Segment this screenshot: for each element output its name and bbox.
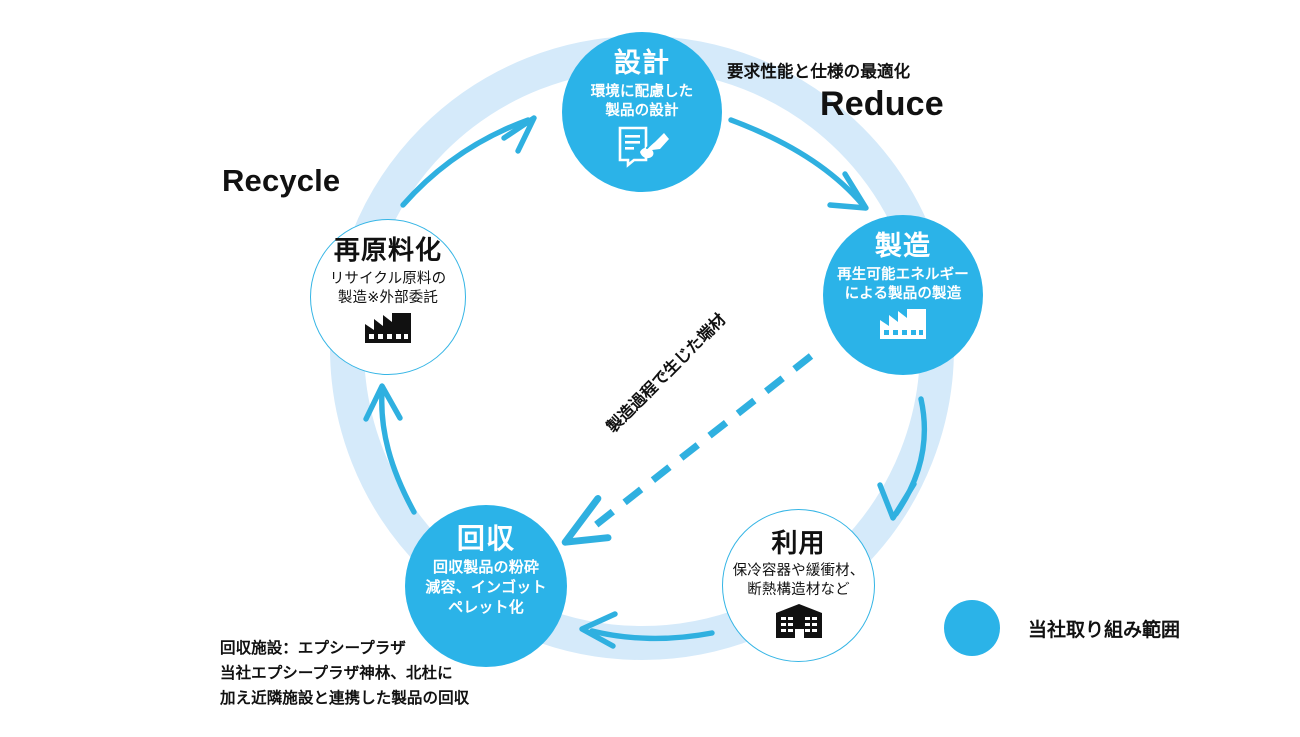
node-remat[interactable]: 再原料化 リサイクル原料の 製造※外部委託 [310, 219, 466, 375]
node-collect-title: 回収 [457, 524, 515, 553]
node-design-title: 設計 [614, 49, 670, 77]
node-collect-description: 回収製品の粉砕 減容、インゴット ペレット化 [425, 558, 546, 617]
collection-facility-note-line-3: 加え近隣施設と連携した製品の回収 [220, 686, 469, 711]
factory-icon [878, 309, 928, 339]
node-collect-desc-line-2: 減容、インゴット [425, 578, 546, 598]
node-manufacture-description: 再生可能エネルギー による製品の製造 [837, 266, 969, 304]
node-use-title: 利用 [771, 530, 825, 557]
legend: 当社取り組み範囲 [944, 600, 1180, 656]
legend-swatch-blue-circle [944, 600, 1000, 656]
warehouse-building-icon [775, 604, 823, 638]
node-design[interactable]: 設計 環境に配慮した 製品の設計 [562, 32, 722, 192]
collection-facility-note-line-2: 当社エプシープラザ神林、北杜に [220, 661, 469, 686]
node-design-description: 環境に配慮した 製品の設計 [591, 83, 694, 121]
node-use-desc-line-2: 断熱構造材など [733, 581, 865, 600]
node-use-description: 保冷容器や緩衝材、 断熱構造材など [733, 562, 865, 600]
node-remat-desc-line-1: リサイクル原料の [330, 270, 446, 289]
legend-label: 当社取り組み範囲 [1028, 615, 1180, 642]
node-design-desc-line-2: 製品の設計 [591, 102, 694, 121]
node-remat-description: リサイクル原料の 製造※外部委託 [330, 270, 446, 308]
reduce-subtitle: 要求性能と仕様の最適化 [727, 58, 910, 82]
node-manufacture[interactable]: 製造 再生可能エネルギー による製品の製造 [823, 215, 983, 375]
node-manufacture-desc-line-2: による製品の製造 [837, 285, 969, 304]
recycling-cycle-diagram: 設計 環境に配慮した 製品の設計 製造 再生可能エネルギー による製品の製造 [0, 0, 1300, 737]
node-remat-title: 再原料化 [334, 237, 442, 264]
node-manufacture-desc-line-1: 再生可能エネルギー [837, 266, 969, 285]
node-use[interactable]: 利用 保冷容器や緩衝材、 断熱構造材など [722, 509, 875, 662]
node-use-desc-line-1: 保冷容器や緩衝材、 [733, 562, 865, 581]
node-collect-desc-line-3: ペレット化 [425, 598, 546, 618]
collection-facility-note-line-1: 回収施設：エプシープラザ [220, 636, 469, 661]
document-hand-writing-icon [614, 124, 670, 168]
factory-icon [363, 313, 413, 343]
collection-facility-note: 回収施設：エプシープラザ 当社エプシープラザ神林、北杜に 加え近隣施設と連携した… [220, 636, 469, 711]
recycle-label: Recycle [222, 163, 340, 199]
node-design-desc-line-1: 環境に配慮した [591, 83, 694, 102]
reduce-label: Reduce [820, 85, 944, 124]
node-manufacture-title: 製造 [875, 232, 931, 260]
node-collect-desc-line-1: 回収製品の粉砕 [425, 558, 546, 578]
node-remat-desc-line-2: 製造※外部委託 [330, 289, 446, 308]
